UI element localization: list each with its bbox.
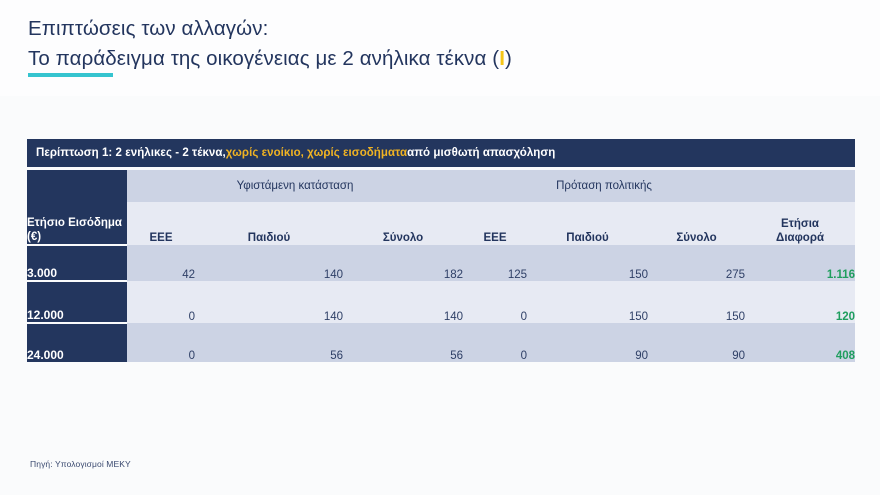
cell-existing-eee: 0 [127, 323, 195, 362]
cell-annual-difference: 408 [745, 323, 855, 362]
cell-existing-eee: 42 [127, 245, 195, 281]
cell-existing-child: 140 [195, 281, 343, 323]
row-income-label: 24.000 [27, 323, 127, 362]
case-header-bar: Περίπτωση 1: 2 ενήλικες - 2 τέκνα, χωρίς… [27, 139, 855, 167]
column-header-proposal-child: Παιδιού [527, 202, 648, 245]
cell-existing-total: 140 [343, 281, 463, 323]
title-line-2-text: Το παράδειγμα της οικογένειας με 2 ανήλι… [28, 47, 499, 70]
row-income-label: 3.000 [27, 245, 127, 281]
cell-proposal-child: 90 [527, 323, 648, 362]
column-header-existing-eee: ΕΕΕ [127, 202, 195, 245]
case-header-text-before: Περίπτωση 1: 2 ενήλικες - 2 τέκνα, [36, 147, 226, 159]
column-header-proposal-eee: ΕΕΕ [463, 202, 527, 245]
cell-proposal-eee: 125 [463, 245, 527, 281]
cell-existing-child: 56 [195, 323, 343, 362]
cell-annual-difference: 1.116 [745, 245, 855, 281]
table-row: 24.000 0 56 56 0 90 90 408 [27, 323, 855, 362]
row-income-label: 12.000 [27, 281, 127, 323]
column-header-existing-total: Σύνολο [343, 202, 463, 245]
cell-proposal-total: 150 [648, 281, 745, 323]
group-header-blank-right [745, 170, 855, 202]
cell-existing-total: 182 [343, 245, 463, 281]
cell-existing-child: 140 [195, 245, 343, 281]
cell-annual-difference: 120 [745, 281, 855, 323]
column-header-annual-difference-line1: Ετήσια [745, 217, 855, 231]
column-header-annual-difference: Ετήσια Διαφορά [745, 202, 855, 245]
cell-proposal-total: 90 [648, 323, 745, 362]
column-header-existing-child: Παιδιού [195, 202, 343, 245]
title-accent-underline [28, 73, 113, 77]
cell-proposal-child: 150 [527, 281, 648, 323]
case-header-highlight: χωρίς ενοίκιο, χωρίς εισοδήματα [226, 147, 407, 159]
group-header-proposal: Πρόταση πολιτικής [463, 170, 745, 202]
cell-proposal-eee: 0 [463, 323, 527, 362]
column-header-annual-difference-line2: Διαφορά [745, 231, 855, 245]
column-header-row: Ετήσιο Εισόδημα (€) ΕΕΕ Παιδιού Σύνολο Ε… [27, 202, 855, 245]
cell-proposal-eee: 0 [463, 281, 527, 323]
table-row: 12.000 0 140 140 0 150 150 120 [27, 281, 855, 323]
title-line-1: Επιπτώσεις των αλλαγών: [28, 14, 848, 44]
case-table: Περίπτωση 1: 2 ενήλικες - 2 τέκνα, χωρίς… [27, 139, 855, 362]
cell-proposal-child: 150 [527, 245, 648, 281]
cell-proposal-total: 275 [648, 245, 745, 281]
cell-existing-total: 56 [343, 323, 463, 362]
column-header-proposal-total: Σύνολο [648, 202, 745, 245]
column-header-annual-income-line1: Ετήσιο [27, 217, 65, 229]
group-header-existing: Υφιστάμενη κατάσταση [127, 170, 463, 202]
case-header-text-after: από μισθωτή απασχόληση [407, 147, 555, 159]
group-header-blank-left [27, 170, 127, 202]
table-row: 3.000 42 140 182 125 150 275 1.116 [27, 245, 855, 281]
source-note: Πηγή: Υπολογισμοί ΜΕΚΥ [30, 459, 131, 469]
slide-title-block: Επιπτώσεις των αλλαγών: Το παράδειγμα τη… [28, 14, 848, 74]
group-header-row: Υφιστάμενη κατάσταση Πρόταση πολιτικής [27, 170, 855, 202]
column-header-annual-income: Ετήσιο Εισόδημα (€) [27, 202, 127, 245]
slide-canvas: Επιπτώσεις των αλλαγών: Το παράδειγμα τη… [0, 0, 880, 495]
title-line-2-close-paren: ) [505, 47, 512, 70]
title-line-2: Το παράδειγμα της οικογένειας με 2 ανήλι… [28, 44, 848, 74]
cell-existing-eee: 0 [127, 281, 195, 323]
benefits-comparison-table: Υφιστάμενη κατάσταση Πρόταση πολιτικής Ε… [27, 170, 855, 362]
